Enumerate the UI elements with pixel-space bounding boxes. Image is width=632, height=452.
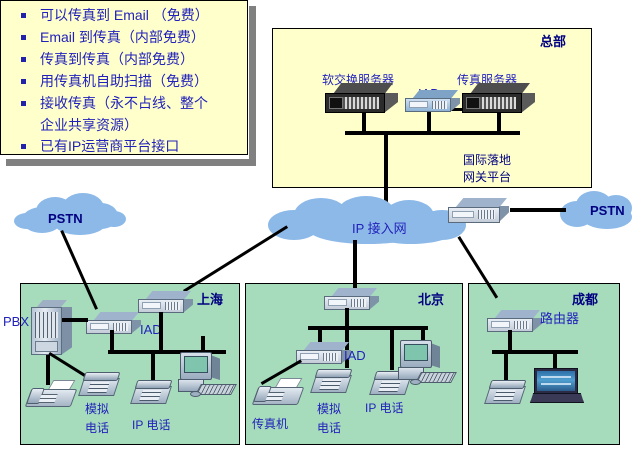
bullet-square-icon: [21, 79, 26, 84]
hq-bus-line: [345, 131, 520, 135]
shanghai-pc-icon: [178, 352, 236, 400]
fax-server-icon: [462, 83, 536, 117]
pstn-right-label: PSTN: [590, 203, 625, 218]
feature-text: 用传真机自助扫描（免费）: [40, 71, 208, 91]
shanghai-ipphone-label: IP 电话: [132, 416, 170, 433]
softswitch-server-icon: [325, 83, 399, 117]
list-item: Email 到传真（内部免费）: [1, 27, 249, 48]
shanghai-analog-label-2: 电话: [85, 419, 109, 436]
list-item: 用传真机自助扫描（免费）: [1, 71, 249, 92]
feature-list: 可以传真到 Email （免费） Email 到传真（内部免费） 传真到传真（内…: [1, 5, 249, 158]
pstn-left-label: PSTN: [48, 211, 83, 226]
bullet-square-icon: [21, 57, 26, 62]
shanghai-analog-label-1: 模拟: [85, 400, 109, 417]
gateway-label-line2: 网关平台: [463, 169, 511, 186]
chengdu-router-label: 路由器: [540, 308, 579, 327]
edge-router-icon: [448, 198, 512, 228]
chengdu-phone-icon: [487, 378, 529, 408]
beijing-access-iad-icon: [324, 288, 380, 314]
chengdu-title: 成都: [572, 289, 598, 308]
beijing-iad-label: IAD: [344, 348, 366, 363]
callout-shadow-bottom: [6, 159, 256, 166]
bullet-square-icon: [21, 13, 26, 18]
shanghai-iad-icon: [86, 312, 142, 338]
pbx-label: PBX: [3, 314, 29, 329]
beijing-analog-phone-icon: [313, 367, 355, 397]
shanghai-iad-drop: [110, 330, 114, 352]
feature-text: Email 到传真（内部免费）: [40, 27, 205, 47]
network-diagram-canvas: 可以传真到 Email （免费） Email 到传真（内部免费） 传真到传真（内…: [0, 0, 632, 452]
gateway-platform-label: 国际落地 网关平台: [463, 152, 511, 186]
shanghai-access-iad-icon: [138, 291, 194, 317]
chengdu-router-icon: [487, 310, 543, 336]
beijing-analog-label-2: 电话: [317, 419, 341, 436]
hq-iad-icon: [405, 90, 461, 116]
bullet-square-icon: [21, 144, 26, 149]
beijing-analog-label-1: 模拟: [317, 400, 341, 417]
ip-access-label: IP 接入网: [352, 218, 407, 237]
list-item: 传真到传真（内部免费）: [1, 49, 249, 70]
feature-text: 可以传真到 Email （免费）: [40, 5, 209, 25]
list-item: 接收传真（永不占线、整个: [1, 93, 249, 114]
headquarters-title: 总部: [540, 31, 566, 50]
beijing-fax-label: 传真机: [252, 415, 288, 432]
feature-callout-box: 可以传真到 Email （免费） Email 到传真（内部免费） 传真到传真（内…: [0, 0, 248, 155]
beijing-ipphone-label: IP 电话: [365, 399, 403, 416]
shanghai-title: 上海: [197, 289, 223, 308]
beijing-fax-icon: [255, 378, 307, 410]
list-item: 可以传真到 Email （免费）: [1, 5, 249, 26]
feature-text: 已有IP运营商平台接口: [40, 136, 179, 156]
feature-text: 接收传真（永不占线、整个: [40, 93, 208, 113]
pbx-icon: [31, 300, 75, 358]
bullet-square-icon: [21, 101, 26, 106]
gateway-label-line1: 国际落地: [463, 152, 511, 169]
router-pstn-link: [510, 208, 566, 212]
shanghai-access-drop: [159, 312, 163, 352]
beijing-bus-line: [308, 326, 428, 330]
shanghai-fax-icon: [28, 380, 80, 412]
shanghai-pc-drop: [201, 336, 205, 352]
beijing-uplink: [353, 240, 357, 288]
list-item: 已有IP运营商平台接口: [1, 136, 249, 157]
shanghai-ip-phone-icon: [133, 378, 175, 408]
chengdu-router-drop: [508, 330, 512, 352]
shanghai-ipphone-drop: [151, 352, 155, 380]
beijing-pc-icon: [398, 340, 456, 388]
beijing-title: 北京: [418, 289, 444, 308]
shanghai-analog-phone-icon: [81, 370, 123, 400]
bullet-square-icon: [21, 35, 26, 40]
feature-text-continuation: 企业共享资源）: [1, 115, 249, 135]
feature-text: 传真到传真（内部免费）: [40, 49, 194, 69]
callout-shadow-right: [249, 6, 256, 164]
chengdu-laptop-icon: [530, 368, 584, 408]
beijing-ipphone-drop: [390, 328, 394, 370]
pbx-iad-link: [62, 318, 88, 322]
beijing-access-drop: [345, 308, 349, 328]
